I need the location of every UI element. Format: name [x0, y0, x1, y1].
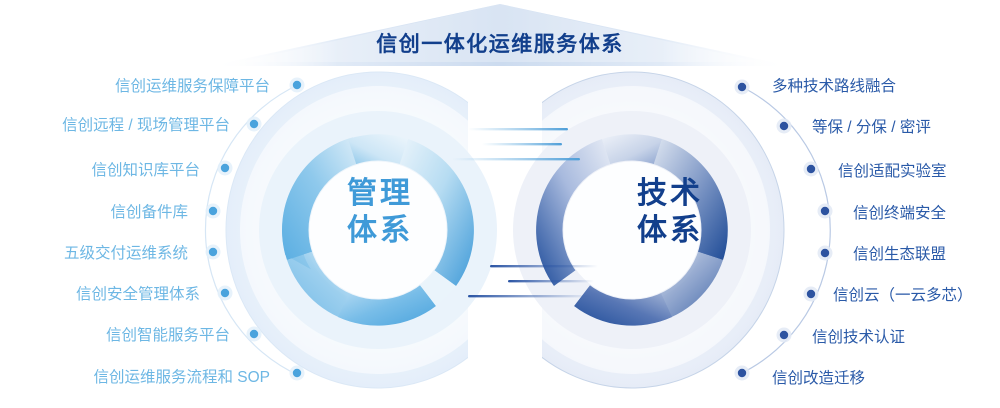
hub-label-management: 管理 体系 [300, 176, 460, 249]
page-title: 信创一体化运维服务体系 [0, 28, 1000, 58]
label-right-1: 等保 / 分保 / 密评 [812, 115, 931, 137]
connector-dot-right-5[interactable] [804, 287, 819, 302]
label-right-3: 信创终端安全 [853, 201, 946, 223]
label-right-2: 信创适配实验室 [838, 159, 947, 181]
connector-dot-left-3[interactable] [206, 204, 221, 219]
connector-dot-right-3[interactable] [818, 204, 833, 219]
label-right-7: 信创改造迁移 [772, 366, 865, 388]
connector-dot-right-4[interactable] [818, 246, 833, 261]
connector-dot-left-2[interactable] [218, 161, 233, 176]
label-right-6: 信创技术认证 [812, 325, 905, 347]
connector-dot-left-7[interactable] [290, 366, 305, 381]
infographic-canvas: 信创一体化运维服务体系 管理 体系 技术 体系 信创运维服务保障平台信创远程 /… [0, 0, 1000, 408]
label-left-5: 信创安全管理体系 [76, 282, 200, 304]
connector-dot-left-5[interactable] [218, 286, 233, 301]
connector-dot-left-4[interactable] [206, 245, 221, 260]
connector-dot-right-7[interactable] [735, 366, 750, 381]
hub-left-line1: 管理 [300, 176, 460, 213]
hub-left-line2: 体系 [300, 213, 460, 250]
hub-right-line1: 技术 [590, 176, 750, 213]
connector-dot-left-1[interactable] [247, 117, 262, 132]
label-left-6: 信创智能服务平台 [106, 323, 230, 345]
hub-label-technology: 技术 体系 [590, 176, 750, 249]
connector-dot-right-1[interactable] [777, 119, 792, 134]
connector-dot-right-2[interactable] [804, 162, 819, 177]
label-left-1: 信创远程 / 现场管理平台 [62, 113, 230, 135]
connector-dot-right-0[interactable] [735, 80, 750, 95]
connector-dot-left-0[interactable] [290, 78, 305, 93]
hub-right-line2: 体系 [590, 213, 750, 250]
label-left-2: 信创知识库平台 [91, 158, 200, 180]
label-right-5: 信创云（一云多芯） [833, 283, 973, 305]
label-right-4: 信创生态联盟 [853, 242, 946, 264]
connector-dot-left-6[interactable] [247, 327, 262, 342]
connector-dot-right-6[interactable] [777, 328, 792, 343]
label-left-3: 信创备件库 [110, 200, 188, 222]
label-left-0: 信创运维服务保障平台 [115, 74, 270, 96]
label-left-4: 五级交付运维系统 [64, 241, 188, 263]
label-right-0: 多种技术路线融合 [772, 74, 896, 96]
label-left-7: 信创运维服务流程和 SOP [93, 365, 270, 387]
